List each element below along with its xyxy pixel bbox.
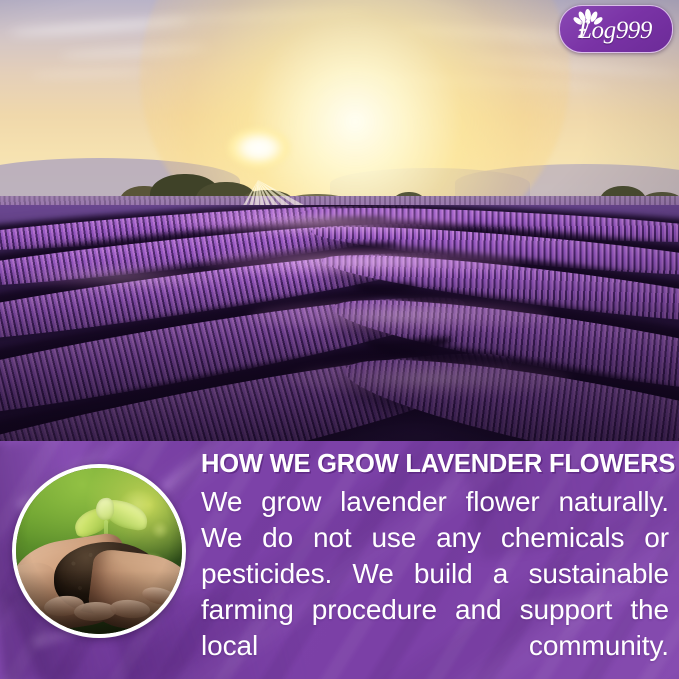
panel-headline: HOW WE GROW LAVENDER FLOWERS [201,449,669,479]
sunlit-flower-tips [290,361,570,397]
brand-logo-badge[interactable]: Log999 [559,5,673,53]
hands-holding-soil-seedling-photo [12,464,186,638]
sunlit-flower-tips [200,247,520,277]
sunlit-flower-tips [20,265,220,289]
sunlit-flower-tips [250,299,550,333]
info-text-block: HOW WE GROW LAVENDER FLOWERS We grow lav… [201,449,669,679]
panel-body-text: We grow lavender flower naturally. We do… [201,484,669,679]
sunlit-flower-tips [170,209,470,235]
brand-logo-text: Log999 [578,17,670,45]
lavender-field-sunset-photo [0,0,679,441]
lavender-rows [0,205,679,441]
seedling-leaf [95,497,114,520]
sun-icon [228,128,290,168]
product-info-graphic: Log999 HOW WE GROW [0,0,679,679]
bokeh-light [152,522,168,538]
